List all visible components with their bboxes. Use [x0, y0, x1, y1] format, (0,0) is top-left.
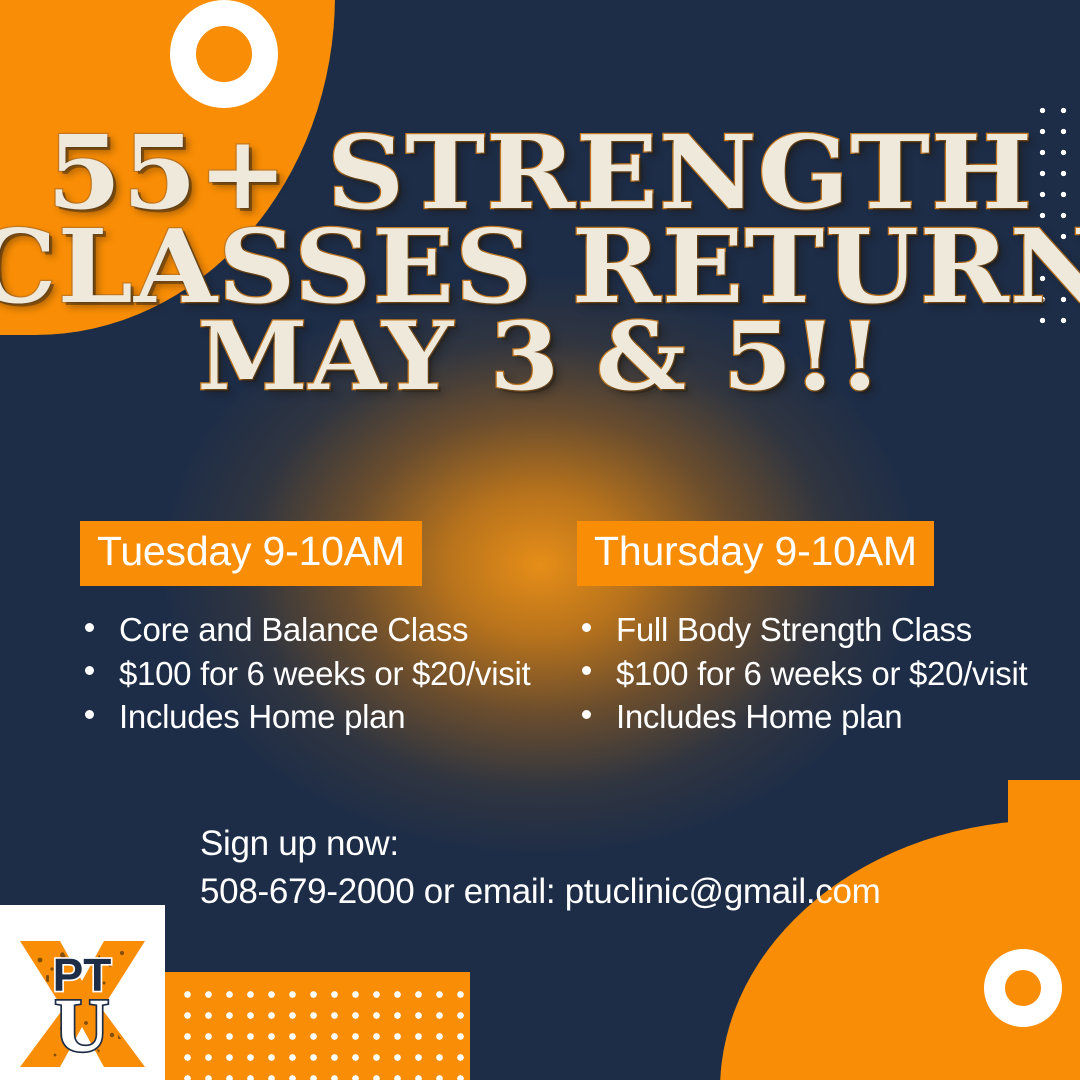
signup-block: Sign up now: 508-679-2000 or email: ptuc…: [200, 820, 1060, 917]
bullet-icon: [582, 666, 591, 675]
bullet-icon: [582, 710, 591, 719]
list-item-label: Includes Home plan: [616, 698, 902, 735]
headline-line-3: MAY 3 & 5!!: [0, 314, 1080, 401]
list-item-label: $100 for 6 weeks or $20/visit: [119, 655, 530, 692]
dot-grid-bottom: [165, 972, 470, 1080]
list-item: Includes Home plan: [80, 695, 500, 739]
list-item-label: Full Body Strength Class: [616, 611, 972, 648]
list-item: $100 for 6 weeks or $20/visit: [80, 652, 500, 696]
schedule-columns: Tuesday 9-10AM Core and Balance Class $1…: [0, 521, 1080, 739]
headline-line-2: CLASSES RETURN: [0, 220, 1080, 314]
schedule-column-tuesday: Tuesday 9-10AM Core and Balance Class $1…: [0, 521, 500, 739]
bullet-icon: [85, 710, 94, 719]
bullet-icon: [85, 666, 94, 675]
ptu-logo: PT U: [0, 905, 165, 1080]
logo-card: PT U: [0, 905, 165, 1080]
schedule-column-thursday: Thursday 9-10AM Full Body Strength Class…: [500, 521, 1000, 739]
promo-poster: 55+ STRENGTH CLASSES RETURN MAY 3 & 5!! …: [0, 0, 1080, 1080]
day-banner-tuesday: Tuesday 9-10AM: [80, 521, 422, 586]
ring-top-left-wrapper: [0, 0, 330, 120]
signup-contact[interactable]: 508-679-2000 or email: ptuclinic@gmail.c…: [200, 868, 1060, 916]
list-item: Full Body Strength Class: [577, 608, 1000, 652]
day-banner-thursday: Thursday 9-10AM: [577, 521, 934, 586]
list-item-label: $100 for 6 weeks or $20/visit: [616, 655, 1027, 692]
ring-icon-bottom-right: [984, 949, 1062, 1027]
list-item-label: Core and Balance Class: [119, 611, 468, 648]
bullet-icon: [582, 623, 591, 632]
logo-text-u: U: [55, 984, 110, 1068]
class-details-tuesday: Core and Balance Class $100 for 6 weeks …: [80, 608, 500, 739]
list-item: $100 for 6 weeks or $20/visit: [577, 652, 1000, 696]
class-details-thursday: Full Body Strength Class $100 for 6 week…: [577, 608, 1000, 739]
page-title: 55+ STRENGTH CLASSES RETURN MAY 3 & 5!!: [0, 126, 1080, 401]
headline-line-1: 55+ STRENGTH: [0, 126, 1080, 220]
list-item-label: Includes Home plan: [119, 698, 405, 735]
ring-icon-top-left: [170, 0, 278, 108]
signup-prompt: Sign up now:: [200, 820, 1060, 868]
list-item: Core and Balance Class: [80, 608, 500, 652]
dot-grid-bottom-dots: [177, 984, 470, 1080]
svg-text:U: U: [55, 984, 110, 1068]
list-item: Includes Home plan: [577, 695, 1000, 739]
bullet-icon: [85, 623, 94, 632]
